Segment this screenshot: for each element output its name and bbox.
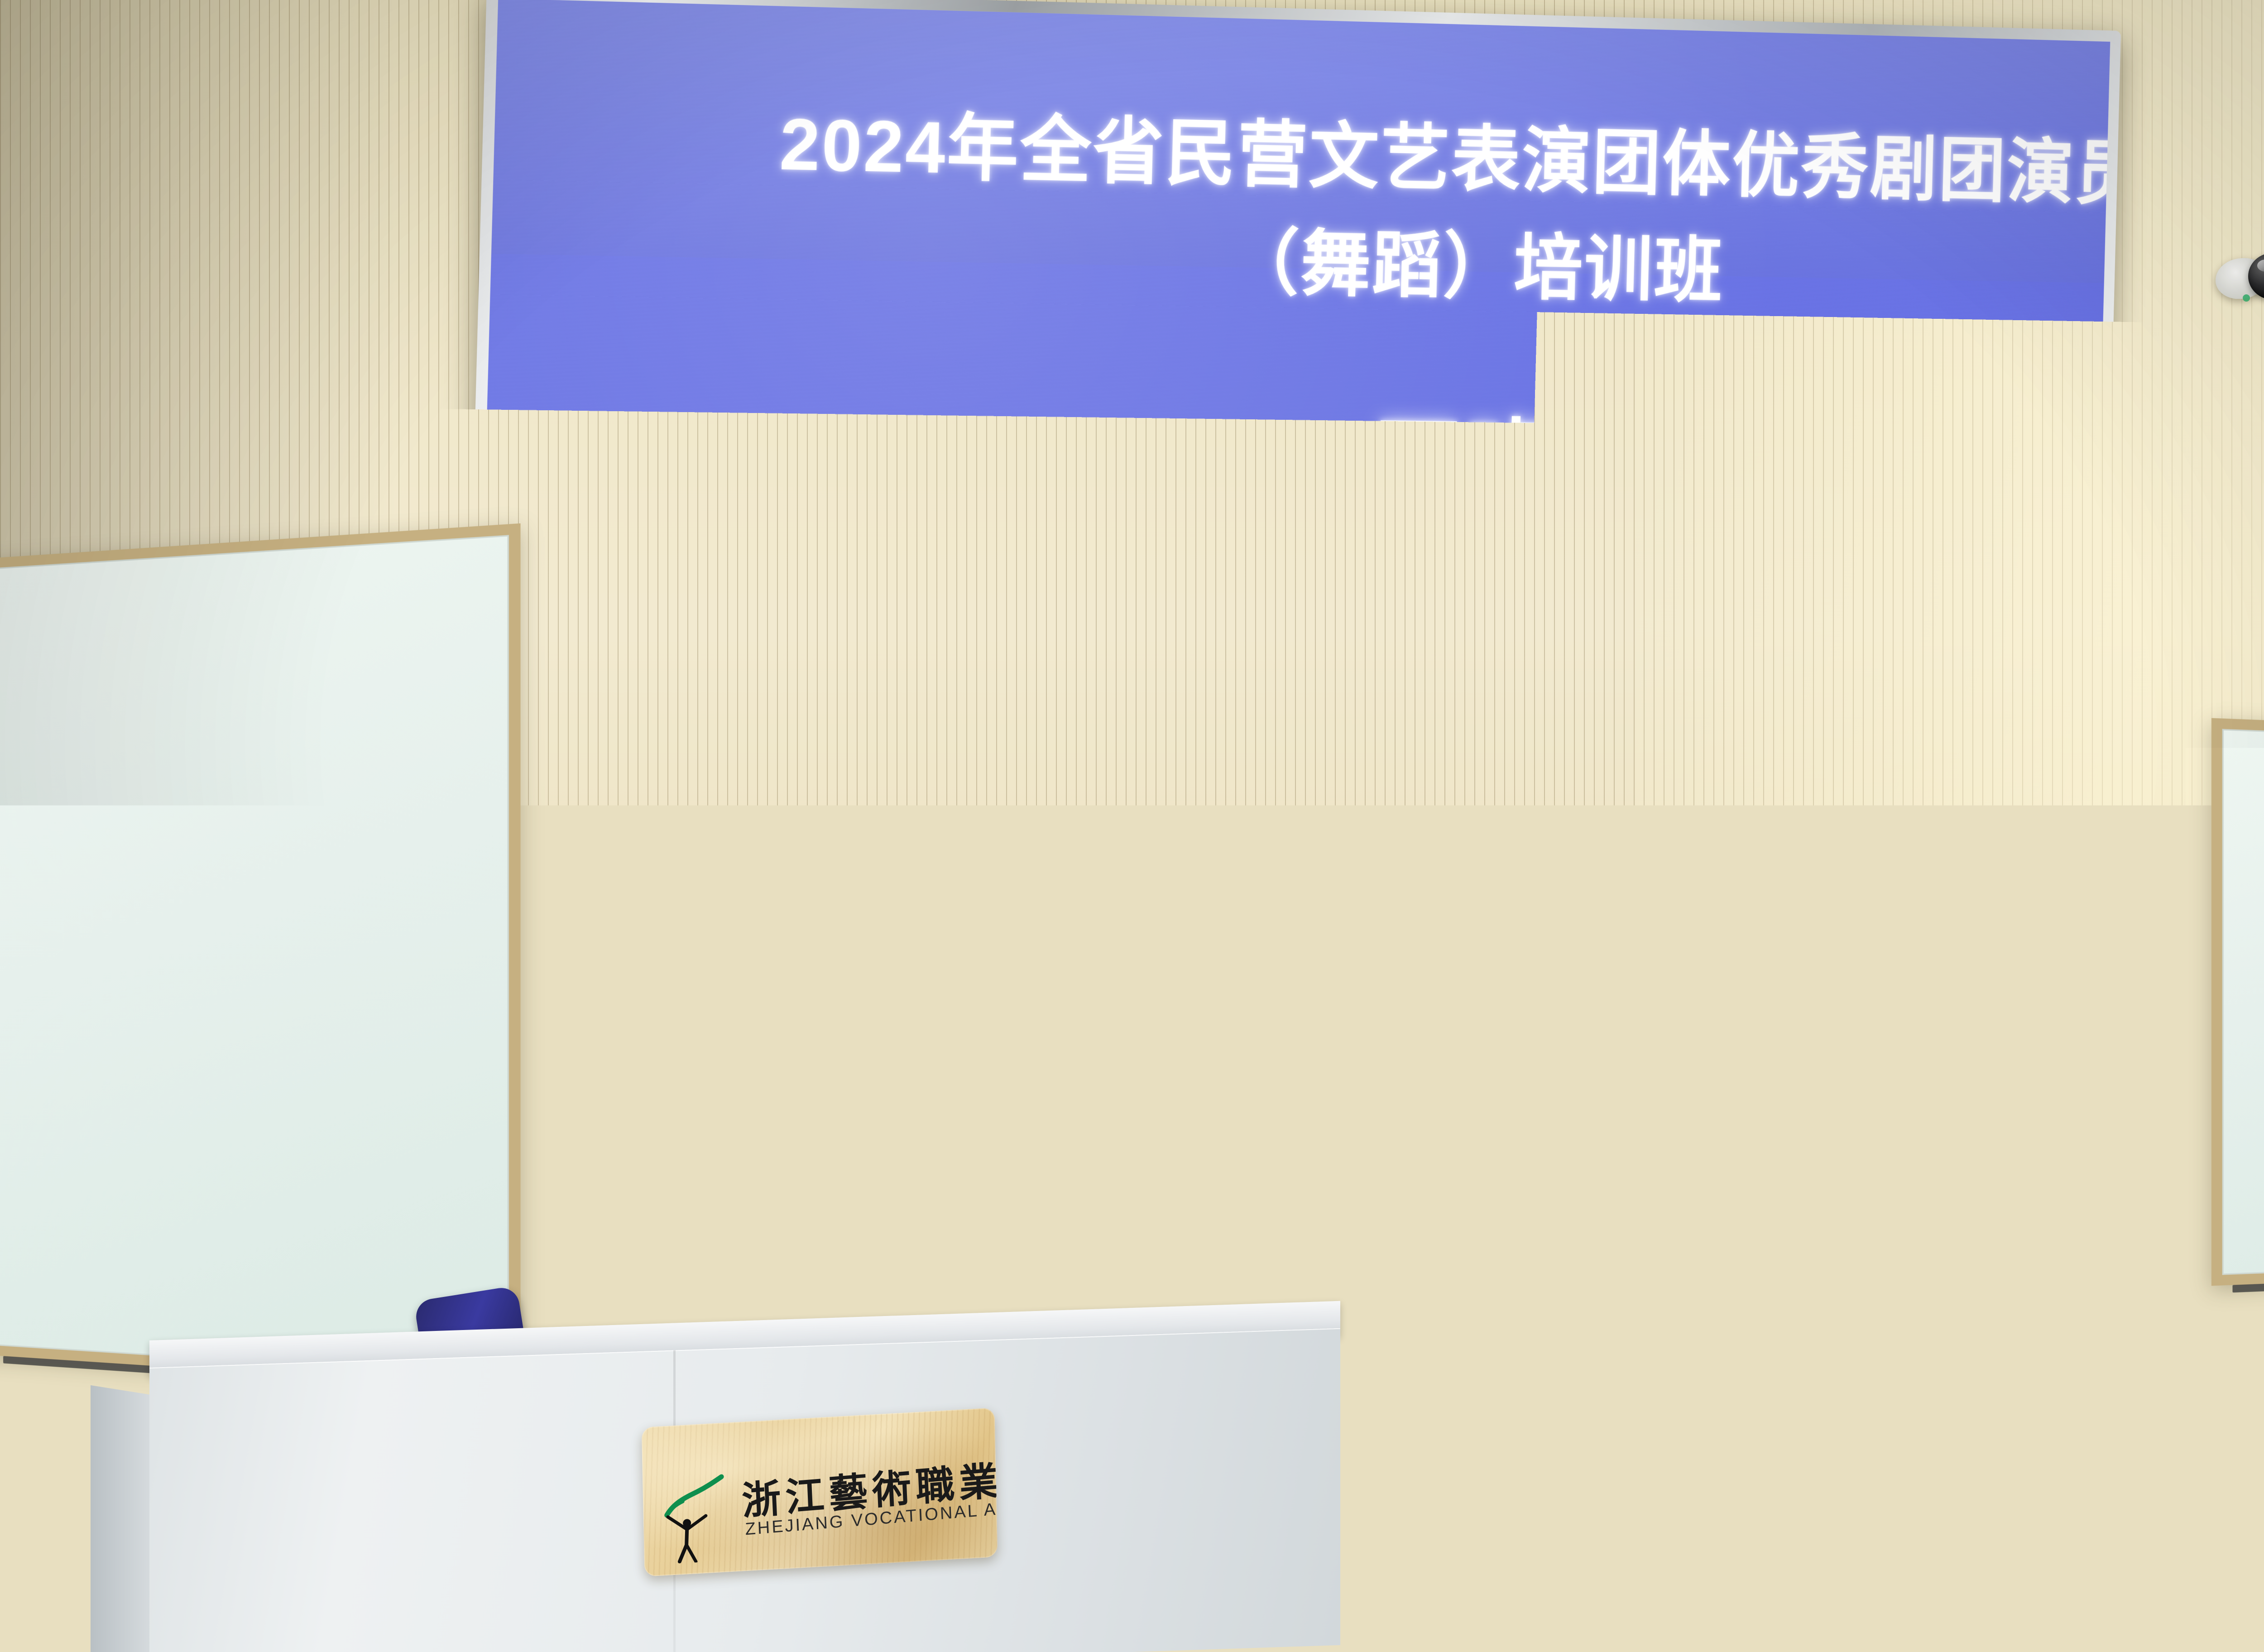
mist-band-3 bbox=[478, 745, 2092, 754]
desktop-monitor: Lenovo 浙江艺术职业学院资产 名称 电脑一体机 编号 JXZD1106 单… bbox=[670, 1110, 1089, 1421]
slide-organizer-line: 承办：浙江艺术职业学院 bbox=[1318, 707, 1808, 774]
dancer-logo-icon bbox=[658, 1470, 737, 1564]
whiteboard-right-pen-tray bbox=[2233, 1277, 2264, 1293]
whiteboard-right bbox=[2211, 718, 2264, 1286]
whiteboard-left-surface bbox=[0, 535, 509, 1378]
qr-code-icon bbox=[1059, 1205, 1076, 1241]
whiteboard-left bbox=[0, 523, 521, 1390]
asset-tag-label: 浙江艺术职业学院资产 名称 电脑一体机 编号 JXZD1106 单位 图书信息中… bbox=[787, 1159, 842, 1206]
slide-organizer-line: 浙江艺术职业学院舞蹈学院 bbox=[1399, 860, 1929, 927]
dome-camera-icon bbox=[2216, 240, 2264, 315]
lectern-side-panel bbox=[91, 1385, 154, 1652]
barcode-icon bbox=[790, 1171, 839, 1184]
slide-headline: 开班仪式 bbox=[1372, 387, 1743, 524]
slide-organizer-line: 主办：浙江省文化广电和旅游厅 bbox=[1320, 630, 1940, 699]
slide-organizer-line: 执行：浙江艺术职业学院继续教育学院 bbox=[1316, 784, 2065, 851]
slide-title-line-2: （舞蹈）培训班 bbox=[1228, 204, 1726, 317]
photo-scene: 2024年全省民营文艺表演团体优秀剧团演员 （舞蹈）培训班 开班仪式 主办：浙江… bbox=[0, 0, 2264, 1652]
monitor-handle-notch bbox=[860, 1231, 963, 1277]
whiteboard-right-surface bbox=[2222, 729, 2264, 1275]
lenovo-logo: Lenovo bbox=[700, 1169, 798, 1204]
asset-tag-row: 编号 JXZD1106 单位 图书信息中心 bbox=[790, 1184, 839, 1189]
foreground-hand-with-paper bbox=[2106, 1467, 2264, 1652]
speaker-pupil-right bbox=[720, 1025, 734, 1038]
microphone-capsule bbox=[686, 1032, 748, 1110]
asset-tag-title: 浙江艺术职业学院资产 bbox=[789, 1161, 838, 1167]
camera-led-icon bbox=[2243, 294, 2250, 302]
speaker-hair-bun bbox=[575, 1042, 643, 1109]
